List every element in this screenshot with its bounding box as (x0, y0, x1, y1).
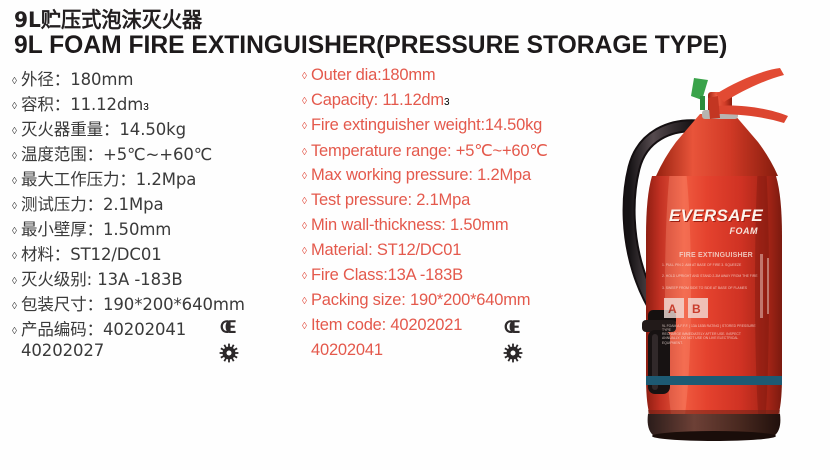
spec-line: Item code: 40202021 (302, 316, 632, 341)
diamond-bullet-icon (302, 193, 311, 207)
diamond-bullet-icon (302, 293, 311, 307)
spec-line: 产品编码：40202041 (12, 316, 312, 341)
spec-line: 40202027 (12, 341, 312, 366)
gear-icon (503, 343, 523, 363)
lever-upper (716, 68, 784, 102)
lever-pivot (708, 96, 720, 119)
spec-line: Fire Class:13A -183B (302, 266, 632, 291)
diamond-bullet-icon (302, 243, 311, 257)
spec-line: Capacity: 11.12dm3 (302, 91, 632, 116)
base-bottom (652, 431, 776, 441)
spec-text: 40202041 (311, 341, 383, 360)
spec-line: Max working pressure: 1.2Mpa (302, 166, 632, 191)
page-title-english: 9L FOAM FIRE EXTINGUISHER(PRESSURE STORA… (14, 31, 727, 60)
spec-line: 灭火器重量：14.50kg (12, 116, 312, 141)
spec-text: Material: ST12/DC01 (311, 241, 461, 260)
diamond-bullet-icon (302, 168, 311, 182)
spec-line: Min wall-thickness: 1.50mm (302, 216, 632, 241)
diamond-bullet-icon (12, 123, 21, 137)
safety-pin (700, 96, 705, 110)
svg-text:B: B (692, 302, 701, 316)
spec-line: 容积：11.12dm3 (12, 91, 312, 116)
spec-line: 外径：180mm (12, 66, 312, 91)
spec-text: 40202027 (21, 341, 104, 360)
spec-text: 最小壁厚：1.50mm (21, 216, 171, 240)
spec-text: 产品编码：40202041 (21, 316, 186, 340)
spec-text: Min wall-thickness: 1.50mm (311, 216, 508, 235)
spec-line: Fire extinguisher weight:14.50kg (302, 116, 632, 141)
page-title-chinese: 9L贮压式泡沫灭火器 (14, 4, 202, 34)
spec-line: 包装尺寸：190*200*640mm (12, 291, 312, 316)
spec-line: 材料：ST12/DC01 (12, 241, 312, 266)
spec-text: Max working pressure: 1.2Mpa (311, 166, 531, 185)
diamond-bullet-icon (302, 268, 311, 282)
diamond-bullet-icon (12, 98, 21, 112)
spec-list-english: Outer dia:180mmCapacity: 11.12dm3Fire ex… (302, 66, 632, 366)
spec-text: Fire extinguisher weight:14.50kg (311, 116, 542, 135)
spec-text: Temperature range: +5℃~+60℃ (311, 141, 548, 161)
spec-list-chinese: 外径：180mm容积：11.12dm3灭火器重量：14.50kg温度范围：+5℃… (12, 66, 312, 366)
spec-text: 灭火级别: 13A -183B (21, 266, 183, 290)
spec-text: Outer dia:180mm (311, 66, 435, 85)
diamond-bullet-icon (302, 318, 311, 332)
spec-text: Item code: 40202021 (311, 316, 462, 335)
diamond-bullet-icon (12, 323, 21, 337)
spec-line: 测试压力：2.1Mpa (12, 191, 312, 216)
gear-icon (219, 343, 239, 363)
spec-line: 40202041 (302, 341, 632, 366)
spec-line: Temperature range: +5℃~+60℃ (302, 141, 632, 166)
diamond-bullet-icon (12, 148, 21, 162)
spec-text: 灭火器重量：14.50kg (21, 116, 186, 140)
diamond-bullet-icon (302, 93, 311, 107)
spec-text: Capacity: 11.12dm (311, 91, 444, 110)
spec-line: 温度范围：+5℃~+60℃ (12, 141, 312, 166)
spec-text: 温度范围：+5℃~+60℃ (21, 141, 212, 165)
spec-line: Outer dia:180mm (302, 66, 632, 91)
product-spec-sheet: 9L贮压式泡沫灭火器 9L FOAM FIRE EXTINGUISHER(PRE… (0, 0, 830, 470)
svg-text:A: A (668, 302, 677, 316)
diamond-bullet-icon (302, 118, 311, 132)
ce-mark-icon (502, 317, 522, 337)
unit-superscript: 3 (444, 97, 450, 108)
diamond-bullet-icon (302, 68, 311, 82)
product-image-fire-extinguisher: A B EVERSAFE FOAM FIRE EXTINGUISHER 1. P… (612, 58, 830, 458)
spec-text: 外径：180mm (21, 66, 133, 90)
spec-text: Test pressure: 2.1Mpa (311, 191, 470, 210)
extinguisher-illustration: A B (612, 58, 830, 458)
spec-text: 容积：11.12dm (21, 91, 143, 115)
spec-text: 材料：ST12/DC01 (21, 241, 162, 265)
safety-pin-seal (691, 78, 708, 100)
spec-text: Fire Class:13A -183B (311, 266, 463, 285)
diamond-bullet-icon (12, 273, 21, 287)
spec-line: 最大工作压力：1.2Mpa (12, 166, 312, 191)
spec-line: Test pressure: 2.1Mpa (302, 191, 632, 216)
diamond-bullet-icon (12, 73, 21, 87)
spec-text: 最大工作压力：1.2Mpa (21, 166, 196, 190)
spec-line: 最小壁厚：1.50mm (12, 216, 312, 241)
unit-superscript: 3 (143, 102, 149, 113)
diamond-bullet-icon (12, 223, 21, 237)
diamond-bullet-icon (302, 144, 311, 158)
spec-text: 包装尺寸：190*200*640mm (21, 291, 245, 315)
spec-text: 测试压力：2.1Mpa (21, 191, 163, 215)
diamond-bullet-icon (12, 173, 21, 187)
diamond-bullet-icon (12, 198, 21, 212)
spec-text: Packing size: 190*200*640mm (311, 291, 530, 310)
diamond-bullet-icon (12, 298, 21, 312)
spec-line: Material: ST12/DC01 (302, 241, 632, 266)
diamond-bullet-icon (12, 248, 21, 262)
retaining-band (646, 376, 782, 385)
spec-line: 灭火级别: 13A -183B (12, 266, 312, 291)
spec-line: Packing size: 190*200*640mm (302, 291, 632, 316)
diamond-bullet-icon (302, 218, 311, 232)
ce-mark-icon (218, 317, 238, 337)
